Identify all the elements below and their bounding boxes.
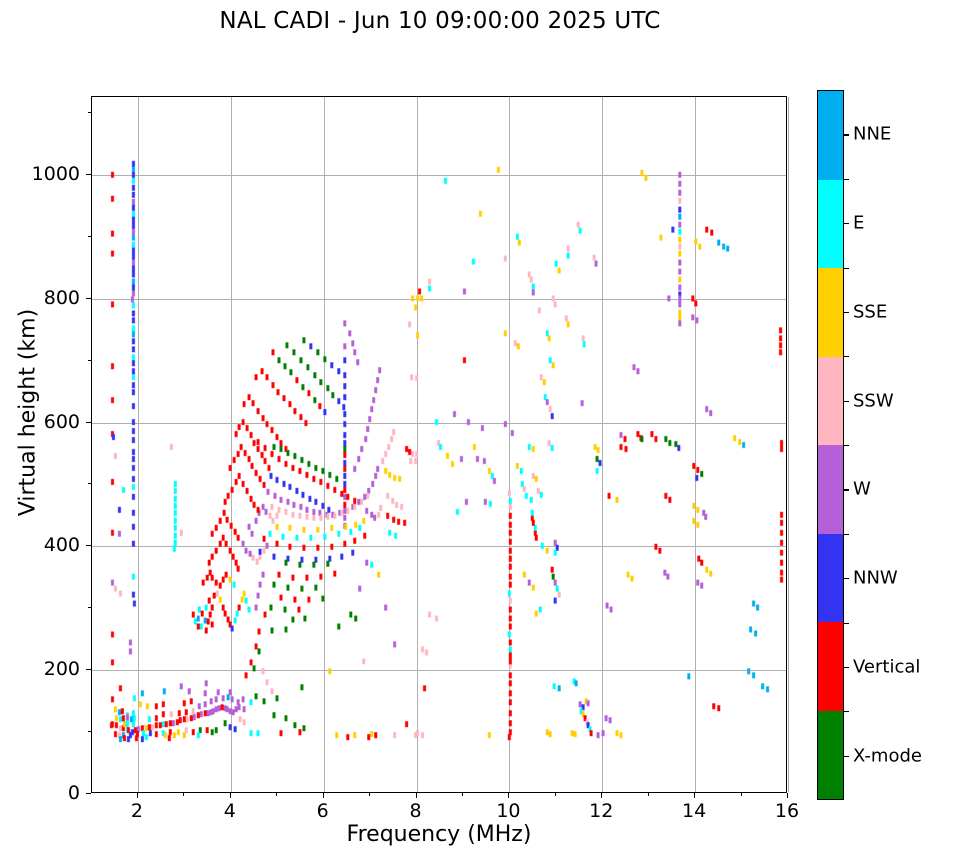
colorbar-tick	[844, 489, 849, 490]
y-tick	[86, 422, 91, 423]
colorbar-label-nnw: NNW	[853, 568, 898, 589]
x-tick	[787, 793, 788, 798]
x-tick-label: 10	[496, 800, 520, 822]
y-tick-minor	[88, 607, 91, 608]
colorbar-tick	[844, 578, 849, 579]
colorbar-label-e: E	[853, 213, 864, 234]
x-tick	[508, 793, 509, 798]
plot-area	[91, 96, 787, 793]
y-tick	[86, 545, 91, 546]
colorbar	[817, 90, 844, 800]
y-tick-minor	[88, 483, 91, 484]
y-tick-minor	[88, 236, 91, 237]
y-tick	[86, 793, 91, 794]
colorbar-boundary-tick	[844, 623, 849, 624]
x-tick-minor	[462, 793, 463, 796]
scatter-layer	[92, 97, 786, 792]
y-tick-minor	[88, 360, 91, 361]
x-tick-label: 16	[775, 800, 799, 822]
colorbar-segment-e	[818, 180, 843, 269]
x-tick-minor	[183, 793, 184, 796]
x-tick-label: 14	[682, 800, 706, 822]
colorbar-tick	[844, 312, 849, 313]
colorbar-segment-ssw	[818, 357, 843, 446]
colorbar-tick	[844, 134, 849, 135]
colorbar-tick	[844, 667, 849, 668]
x-tick-minor	[276, 793, 277, 796]
x-tick	[416, 793, 417, 798]
gridline-vertical	[788, 97, 789, 792]
y-tick-label: 0	[10, 782, 80, 804]
colorbar-boundary-tick	[844, 268, 849, 269]
x-tick	[601, 793, 602, 798]
y-tick	[86, 174, 91, 175]
y-tick-label: 200	[10, 658, 80, 680]
x-tick-minor	[555, 793, 556, 796]
colorbar-tick	[844, 756, 849, 757]
colorbar-label-vertical: Vertical	[853, 656, 920, 677]
x-tick	[137, 793, 138, 798]
x-tick-minor	[648, 793, 649, 796]
colorbar-segment-sse	[818, 268, 843, 357]
x-tick	[230, 793, 231, 798]
y-tick	[86, 298, 91, 299]
colorbar-segment-vertical	[818, 622, 843, 711]
x-tick-label: 6	[317, 800, 329, 822]
colorbar-segment-nnw	[818, 534, 843, 623]
y-tick-minor	[88, 112, 91, 113]
colorbar-boundary-tick	[844, 711, 849, 712]
x-axis-label: Frequency (MHz)	[91, 822, 787, 847]
colorbar-tick	[844, 401, 849, 402]
x-tick-label: 2	[131, 800, 143, 822]
colorbar-label-sse: SSE	[853, 301, 887, 322]
y-tick-label: 1000	[10, 163, 80, 185]
colorbar-tick	[844, 223, 849, 224]
x-tick-minor	[369, 793, 370, 796]
y-tick-minor	[88, 731, 91, 732]
y-tick	[86, 669, 91, 670]
x-tick-minor	[741, 793, 742, 796]
ionogram-figure: NAL CADI - Jun 10 09:00:00 2025 UTC 2468…	[0, 0, 958, 857]
colorbar-label-ssw: SSW	[853, 390, 894, 411]
x-tick	[323, 793, 324, 798]
colorbar-label-w: W	[853, 479, 871, 500]
colorbar-segment-nne	[818, 91, 843, 180]
colorbar-boundary-tick	[844, 179, 849, 180]
page-title: NAL CADI - Jun 10 09:00:00 2025 UTC	[0, 8, 880, 34]
colorbar-label-x-mode: X-mode	[853, 745, 922, 766]
colorbar-segment-x-mode	[818, 711, 843, 800]
x-tick-label: 8	[410, 800, 422, 822]
x-tick-label: 12	[589, 800, 613, 822]
x-tick	[694, 793, 695, 798]
x-tick-label: 4	[224, 800, 236, 822]
colorbar-label-nne: NNE	[853, 124, 891, 145]
y-axis-label: Virtual height (km)	[16, 203, 41, 623]
colorbar-boundary-tick	[844, 445, 849, 446]
colorbar-segment-w	[818, 445, 843, 534]
colorbar-boundary-tick	[844, 534, 849, 535]
colorbar-boundary-tick	[844, 356, 849, 357]
